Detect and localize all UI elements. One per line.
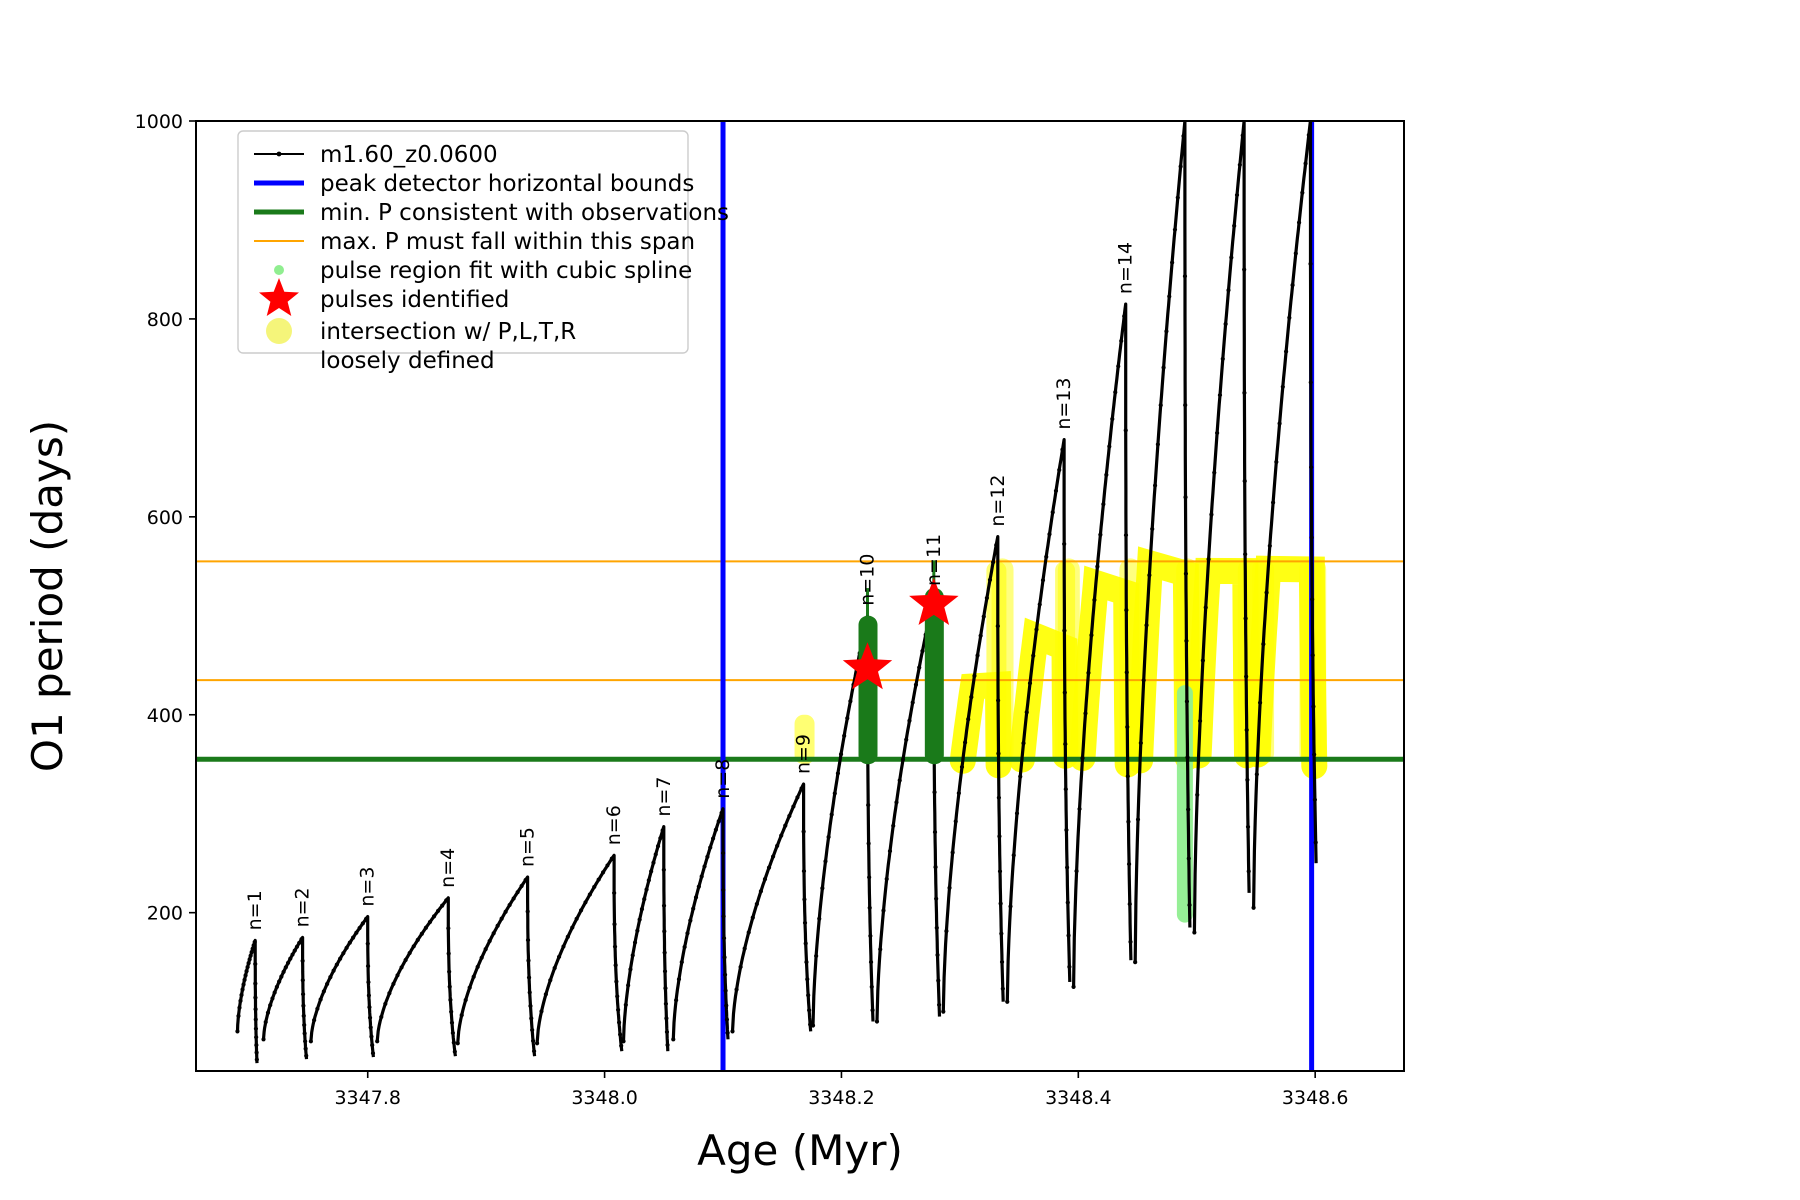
data-marker bbox=[866, 803, 870, 807]
data-marker bbox=[663, 969, 667, 973]
data-line-cycle bbox=[264, 937, 307, 1059]
data-marker bbox=[520, 884, 524, 888]
data-marker bbox=[1226, 288, 1230, 292]
data-marker bbox=[500, 917, 504, 921]
data-marker bbox=[656, 844, 660, 848]
data-marker bbox=[319, 997, 323, 1001]
data-marker bbox=[730, 1029, 734, 1033]
data-marker bbox=[649, 869, 653, 873]
data-marker bbox=[888, 849, 892, 853]
data-marker bbox=[845, 716, 849, 720]
data-marker bbox=[644, 887, 648, 891]
data-marker bbox=[524, 878, 528, 882]
plot-figure: 3347.83348.03348.23348.43348.62004006008… bbox=[0, 0, 1800, 1200]
data-marker bbox=[1124, 428, 1128, 432]
data-marker bbox=[688, 918, 692, 922]
data-marker bbox=[284, 965, 288, 969]
data-marker bbox=[1116, 364, 1120, 368]
data-marker bbox=[1107, 444, 1111, 448]
data-marker bbox=[1066, 933, 1070, 937]
x-axis-title: Age (Myr) bbox=[697, 1126, 903, 1175]
data-marker bbox=[1062, 542, 1066, 546]
data-marker bbox=[680, 960, 684, 964]
data-marker bbox=[277, 979, 281, 983]
data-marker bbox=[1124, 533, 1128, 537]
data-marker bbox=[539, 1009, 543, 1013]
data-marker bbox=[264, 1020, 268, 1024]
legend-label: loosely defined bbox=[320, 348, 495, 374]
data-marker bbox=[932, 790, 936, 794]
data-marker bbox=[663, 951, 667, 955]
legend-label: pulse region fit with cubic spline bbox=[320, 258, 692, 284]
data-marker bbox=[614, 963, 618, 967]
x-tick-label: 3347.8 bbox=[334, 1087, 400, 1109]
data-marker bbox=[1245, 728, 1249, 732]
peak-label: n=10 bbox=[857, 554, 879, 606]
data-marker bbox=[739, 965, 743, 969]
y-tick-label: 800 bbox=[147, 309, 183, 331]
data-marker bbox=[1167, 294, 1171, 298]
data-marker bbox=[614, 979, 618, 983]
data-marker bbox=[253, 1007, 257, 1011]
data-marker bbox=[814, 954, 818, 958]
data-marker bbox=[432, 914, 436, 918]
data-marker bbox=[1164, 329, 1168, 333]
data-marker bbox=[253, 981, 257, 985]
data-marker bbox=[724, 1003, 728, 1007]
data-marker bbox=[1122, 314, 1126, 318]
data-marker bbox=[665, 1030, 669, 1034]
data-marker bbox=[286, 961, 290, 965]
data-marker bbox=[1297, 221, 1301, 225]
data-marker bbox=[1071, 985, 1075, 989]
data-marker bbox=[1261, 642, 1265, 646]
data-marker bbox=[1092, 598, 1096, 602]
y-tick-label: 600 bbox=[147, 507, 183, 529]
data-marker bbox=[1083, 711, 1087, 715]
data-marker bbox=[526, 938, 530, 942]
data-marker bbox=[947, 886, 951, 890]
data-marker bbox=[610, 857, 614, 861]
peak-label: n=12 bbox=[987, 474, 1009, 526]
data-marker bbox=[480, 956, 484, 960]
data-marker bbox=[661, 828, 665, 832]
data-marker bbox=[1185, 755, 1189, 759]
data-marker bbox=[301, 959, 305, 963]
data-marker bbox=[496, 924, 500, 928]
data-marker bbox=[1041, 578, 1045, 582]
data-marker bbox=[484, 947, 488, 951]
data-marker bbox=[299, 937, 303, 941]
data-marker bbox=[366, 942, 370, 946]
data-marker bbox=[325, 982, 329, 986]
data-marker bbox=[996, 624, 1000, 628]
data-marker bbox=[504, 910, 508, 914]
data-marker bbox=[253, 940, 257, 944]
data-marker bbox=[626, 983, 630, 987]
legend-label: peak detector horizontal bounds bbox=[320, 171, 694, 197]
data-marker bbox=[804, 960, 808, 964]
data-marker bbox=[898, 778, 902, 782]
data-marker bbox=[870, 985, 874, 989]
data-marker bbox=[440, 903, 444, 907]
data-marker bbox=[1012, 853, 1016, 857]
data-marker bbox=[1101, 502, 1105, 506]
data-marker bbox=[759, 889, 763, 893]
data-marker bbox=[802, 897, 806, 901]
peak-label: n=8 bbox=[712, 759, 734, 799]
data-marker bbox=[254, 1027, 258, 1031]
data-marker bbox=[246, 965, 250, 969]
data-marker bbox=[1309, 465, 1313, 469]
data-marker bbox=[295, 945, 299, 949]
data-marker bbox=[583, 900, 587, 904]
data-marker bbox=[532, 1049, 536, 1053]
data-marker bbox=[456, 1041, 460, 1045]
data-marker bbox=[451, 1031, 455, 1035]
data-marker bbox=[1047, 532, 1051, 536]
legend-marker-intersection-dot bbox=[266, 318, 292, 344]
data-marker bbox=[996, 698, 1000, 702]
data-marker bbox=[1242, 267, 1246, 271]
data-marker bbox=[235, 1029, 239, 1033]
x-tick-label: 3348.6 bbox=[1282, 1087, 1348, 1109]
data-marker bbox=[823, 859, 827, 863]
data-line-cycle bbox=[624, 827, 668, 1052]
data-marker bbox=[799, 786, 803, 790]
data-marker bbox=[867, 875, 871, 879]
data-marker bbox=[1080, 756, 1084, 760]
data-marker bbox=[722, 955, 726, 959]
data-marker bbox=[361, 921, 365, 925]
data-marker bbox=[628, 967, 632, 971]
data-marker bbox=[358, 926, 362, 930]
data-marker bbox=[1307, 133, 1311, 137]
data-marker bbox=[253, 962, 257, 966]
data-marker bbox=[1284, 350, 1288, 354]
data-marker bbox=[842, 734, 846, 738]
data-marker bbox=[449, 1010, 453, 1014]
data-marker bbox=[647, 878, 651, 882]
data-marker bbox=[1144, 623, 1148, 627]
data-marker bbox=[1187, 903, 1191, 907]
data-marker bbox=[601, 870, 605, 874]
data-marker bbox=[1241, 133, 1245, 137]
data-marker bbox=[717, 819, 721, 823]
data-marker bbox=[1104, 473, 1108, 477]
data-marker bbox=[875, 1019, 879, 1023]
data-marker bbox=[674, 998, 678, 1002]
data-marker bbox=[803, 921, 807, 925]
data-marker bbox=[302, 1014, 306, 1018]
data-marker bbox=[937, 1003, 941, 1007]
data-marker bbox=[1062, 629, 1066, 633]
data-marker bbox=[677, 977, 681, 981]
data-marker bbox=[1287, 316, 1291, 320]
data-marker bbox=[1161, 365, 1165, 369]
data-marker bbox=[654, 852, 658, 856]
data-marker bbox=[371, 1051, 375, 1055]
data-marker bbox=[248, 957, 252, 961]
data-marker bbox=[1224, 322, 1228, 326]
data-marker bbox=[885, 877, 889, 881]
data-marker bbox=[985, 596, 989, 600]
data-marker bbox=[383, 1002, 387, 1006]
data-marker bbox=[1204, 605, 1208, 609]
data-marker bbox=[528, 1004, 532, 1008]
data-marker bbox=[366, 980, 370, 984]
data-marker bbox=[969, 695, 973, 699]
data-marker bbox=[304, 1047, 308, 1051]
data-marker bbox=[1025, 710, 1029, 714]
data-marker bbox=[848, 699, 852, 703]
data-marker bbox=[579, 908, 583, 912]
data-marker bbox=[238, 999, 242, 1003]
legend-label: max. P must fall within this span bbox=[320, 229, 695, 255]
data-marker bbox=[1126, 774, 1130, 778]
data-marker bbox=[934, 897, 938, 901]
data-marker bbox=[933, 865, 937, 869]
data-marker bbox=[944, 929, 948, 933]
data-marker bbox=[1005, 1000, 1009, 1004]
data-marker bbox=[817, 917, 821, 921]
data-marker bbox=[1238, 163, 1242, 167]
peak-label: n=1 bbox=[244, 890, 266, 930]
data-marker bbox=[1264, 591, 1268, 595]
data-marker bbox=[671, 1037, 675, 1041]
legend-label: m1.60_z0.0600 bbox=[320, 142, 498, 168]
data-marker bbox=[1313, 798, 1317, 802]
data-marker bbox=[755, 902, 759, 906]
data-marker bbox=[255, 1058, 259, 1062]
data-marker bbox=[1183, 274, 1187, 278]
data-marker bbox=[1156, 442, 1160, 446]
x-tick-label: 3348.2 bbox=[808, 1087, 874, 1109]
data-marker bbox=[527, 975, 531, 979]
data-marker bbox=[488, 939, 492, 943]
legend-label: pulses identified bbox=[320, 287, 509, 313]
data-marker bbox=[266, 1011, 270, 1015]
data-marker bbox=[1311, 705, 1315, 709]
data-marker bbox=[1308, 262, 1312, 266]
data-marker bbox=[725, 1018, 729, 1022]
data-marker bbox=[553, 966, 557, 970]
data-marker bbox=[1271, 500, 1275, 504]
data-marker bbox=[833, 791, 837, 795]
data-line-cycle bbox=[733, 784, 811, 1031]
data-marker bbox=[1126, 820, 1130, 824]
data-marker bbox=[1195, 793, 1199, 797]
data-marker bbox=[1001, 987, 1005, 991]
data-line-cycle bbox=[1194, 121, 1249, 933]
data-marker bbox=[651, 861, 655, 865]
data-marker bbox=[911, 700, 915, 704]
data-marker bbox=[566, 935, 570, 939]
data-marker bbox=[734, 987, 738, 991]
data-marker bbox=[642, 897, 646, 901]
data-marker bbox=[236, 1014, 240, 1018]
data-marker bbox=[618, 1032, 622, 1036]
data-marker bbox=[312, 1018, 316, 1022]
data-marker bbox=[870, 1008, 874, 1012]
data-marker bbox=[1221, 357, 1225, 361]
data-marker bbox=[412, 944, 416, 948]
data-marker bbox=[332, 969, 336, 973]
data-marker bbox=[452, 1041, 456, 1045]
data-marker bbox=[1063, 691, 1067, 695]
data-marker bbox=[994, 543, 998, 547]
data-marker bbox=[1186, 807, 1190, 811]
data-marker bbox=[240, 987, 244, 991]
data-marker bbox=[1206, 557, 1210, 561]
data-marker bbox=[901, 758, 905, 762]
data-marker bbox=[399, 965, 403, 969]
data-marker bbox=[447, 951, 451, 955]
data-marker bbox=[448, 998, 452, 1002]
data-marker bbox=[367, 1005, 371, 1009]
data-marker bbox=[254, 1035, 258, 1039]
data-marker bbox=[1170, 260, 1174, 264]
data-marker bbox=[1184, 639, 1188, 643]
data-marker bbox=[631, 953, 635, 957]
data-marker bbox=[624, 1003, 628, 1007]
data-marker bbox=[617, 1020, 621, 1024]
data-marker bbox=[708, 845, 712, 849]
data-marker bbox=[779, 834, 783, 838]
data-marker bbox=[270, 996, 274, 1000]
data-marker bbox=[1065, 865, 1069, 869]
data-marker bbox=[450, 1021, 454, 1025]
data-marker bbox=[544, 992, 548, 996]
data-marker bbox=[914, 683, 918, 687]
data-marker bbox=[1095, 565, 1099, 569]
data-marker bbox=[804, 941, 808, 945]
plot-svg: 3347.83348.03348.23348.43348.62004006008… bbox=[0, 0, 1800, 1200]
data-marker bbox=[1159, 403, 1163, 407]
x-tick-label: 3348.0 bbox=[571, 1087, 637, 1109]
data-marker bbox=[304, 1054, 308, 1058]
data-marker bbox=[535, 1041, 539, 1045]
intersection-column bbox=[1058, 558, 1080, 764]
data-marker bbox=[348, 941, 352, 945]
data-marker bbox=[1218, 393, 1222, 397]
data-marker bbox=[364, 917, 368, 921]
data-marker bbox=[1034, 627, 1038, 631]
data-marker bbox=[613, 945, 617, 949]
data-marker bbox=[428, 920, 432, 924]
legend: m1.60_z0.0600peak detector horizontal bo… bbox=[238, 131, 729, 374]
data-marker bbox=[1184, 572, 1188, 576]
data-marker bbox=[420, 932, 424, 936]
data-marker bbox=[1311, 653, 1315, 657]
data-marker bbox=[1127, 862, 1131, 866]
data-marker bbox=[941, 1010, 945, 1014]
data-marker bbox=[255, 1050, 259, 1054]
data-marker bbox=[664, 1016, 668, 1020]
data-marker bbox=[996, 752, 1000, 756]
data-marker bbox=[1235, 193, 1239, 197]
data-marker bbox=[811, 1023, 815, 1027]
data-marker bbox=[1277, 421, 1281, 425]
data-marker bbox=[917, 666, 921, 670]
data-marker bbox=[1179, 164, 1183, 168]
legend-label: min. P consistent with observations bbox=[320, 200, 729, 226]
data-marker bbox=[997, 834, 1001, 838]
data-marker bbox=[253, 996, 257, 1000]
data-marker bbox=[1243, 479, 1247, 483]
data-marker bbox=[1290, 283, 1294, 287]
data-marker bbox=[239, 993, 243, 997]
data-marker bbox=[665, 1043, 669, 1047]
peak-label: n=5 bbox=[517, 827, 539, 867]
data-marker bbox=[1113, 390, 1117, 394]
data-marker bbox=[366, 964, 370, 968]
data-marker bbox=[395, 973, 399, 977]
data-marker bbox=[878, 947, 882, 951]
data-marker bbox=[1201, 658, 1205, 662]
data-marker bbox=[830, 812, 834, 816]
data-marker bbox=[1309, 380, 1313, 384]
data-marker bbox=[351, 936, 355, 940]
data-marker bbox=[826, 835, 830, 839]
data-marker bbox=[771, 854, 775, 858]
data-marker bbox=[1244, 674, 1248, 678]
data-marker bbox=[375, 1039, 379, 1043]
data-marker bbox=[619, 1044, 623, 1048]
data-marker bbox=[1212, 471, 1216, 475]
data-marker bbox=[802, 830, 806, 834]
data-marker bbox=[1310, 536, 1314, 540]
data-marker bbox=[468, 985, 472, 989]
data-marker bbox=[982, 614, 986, 618]
data-marker bbox=[1128, 940, 1132, 944]
data-marker bbox=[301, 1004, 305, 1008]
data-marker bbox=[719, 811, 723, 815]
data-marker bbox=[1064, 787, 1068, 791]
data-marker bbox=[448, 985, 452, 989]
data-marker bbox=[526, 909, 530, 913]
data-marker bbox=[1294, 251, 1298, 255]
data-marker bbox=[1110, 417, 1114, 421]
data-marker bbox=[1181, 134, 1185, 138]
data-marker bbox=[933, 830, 937, 834]
data-marker bbox=[368, 1016, 372, 1020]
data-marker bbox=[1173, 228, 1177, 232]
peak-label: n=3 bbox=[357, 867, 379, 907]
data-marker bbox=[662, 868, 666, 872]
data-marker bbox=[531, 1039, 535, 1043]
data-marker bbox=[1147, 573, 1151, 577]
data-marker bbox=[972, 674, 976, 678]
data-marker bbox=[1057, 468, 1061, 472]
data-marker bbox=[1015, 811, 1019, 815]
green-pulse-region bbox=[859, 616, 878, 764]
data-marker bbox=[635, 929, 639, 933]
data-marker bbox=[512, 896, 516, 900]
data-marker bbox=[528, 990, 532, 994]
peak-label: n=7 bbox=[653, 777, 675, 817]
data-marker bbox=[1142, 678, 1146, 682]
data-marker bbox=[891, 824, 895, 828]
data-marker bbox=[988, 578, 992, 582]
data-marker bbox=[447, 970, 451, 974]
data-marker bbox=[807, 1008, 811, 1012]
data-marker bbox=[683, 945, 687, 949]
data-marker bbox=[999, 932, 1003, 936]
data-marker bbox=[476, 965, 480, 969]
data-marker bbox=[526, 959, 530, 963]
data-marker bbox=[1245, 778, 1249, 782]
